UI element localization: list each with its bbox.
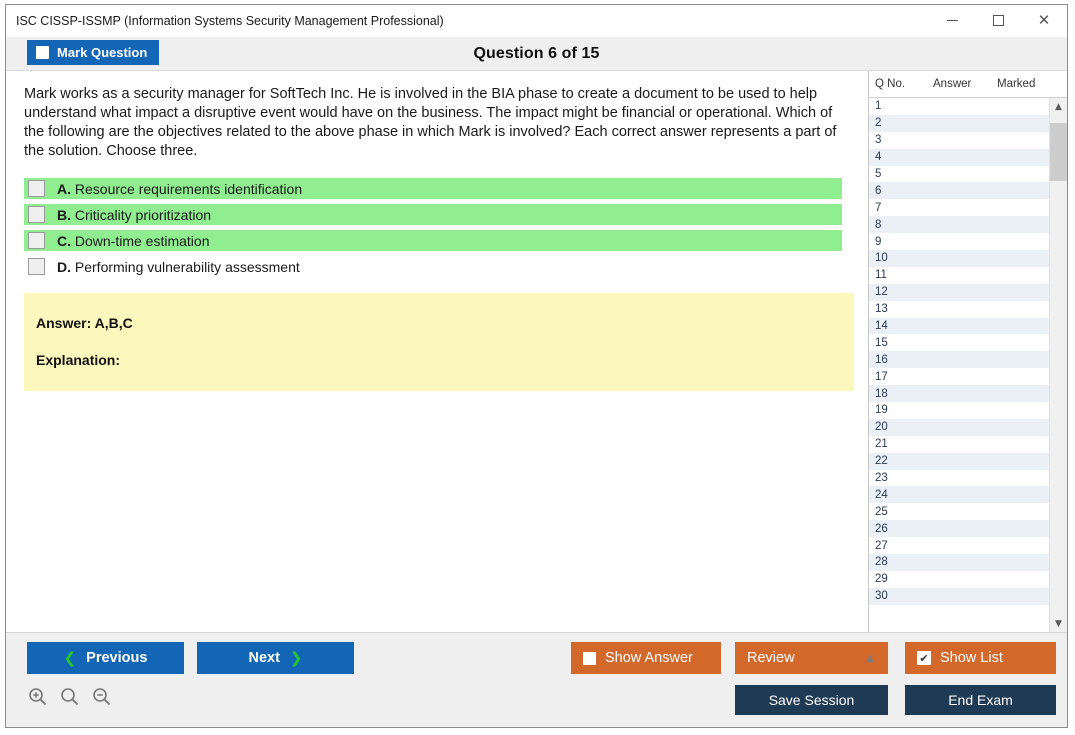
mark-question-checkbox-icon[interactable]	[36, 46, 49, 59]
question-rows-container: 1234567891011121314151617181920212223242…	[869, 98, 1049, 632]
question-list-cell-no: 23	[869, 472, 901, 484]
answer-option-label: B. Criticality prioritization	[57, 207, 211, 223]
question-list-row[interactable]: 27	[869, 537, 1049, 554]
question-list-cell-no: 25	[869, 506, 901, 518]
answer-option-checkbox[interactable]	[28, 206, 45, 223]
question-list-cell-no: 21	[869, 438, 901, 450]
question-list-cell-no: 4	[869, 151, 901, 163]
scrollbar-track[interactable]	[1050, 115, 1067, 615]
show-list-button[interactable]: ✔ Show List	[905, 642, 1056, 674]
end-exam-label: End Exam	[948, 692, 1013, 708]
answer-option-label: D. Performing vulnerability assessment	[57, 259, 300, 275]
previous-button[interactable]: ❮ Previous	[27, 642, 184, 674]
next-button[interactable]: Next ❯	[197, 642, 354, 674]
zoom-in-icon[interactable]	[28, 687, 47, 706]
question-list-row[interactable]: 15	[869, 334, 1049, 351]
answer-option-letter: C.	[57, 233, 71, 249]
question-list-row[interactable]: 11	[869, 267, 1049, 284]
question-list-row[interactable]: 18	[869, 385, 1049, 402]
scroll-up-icon[interactable]: ▲	[1050, 98, 1067, 115]
question-list-row[interactable]: 20	[869, 419, 1049, 436]
previous-chevron-icon: ❮	[64, 651, 77, 666]
question-list-cell-no: 29	[869, 573, 901, 585]
question-list-row[interactable]: 12	[869, 284, 1049, 301]
zoom-toolbar	[28, 687, 111, 706]
question-list-cell-no: 6	[869, 185, 901, 197]
question-list-row[interactable]: 8	[869, 216, 1049, 233]
answer-option-letter: A.	[57, 181, 71, 197]
chevron-up-icon: ▲	[866, 653, 874, 664]
question-text: Mark works as a security manager for Sof…	[24, 85, 850, 161]
question-header-bar: Mark Question Question 6 of 15	[6, 37, 1067, 71]
question-list-cell-no: 14	[869, 320, 901, 332]
show-list-checkbox-icon[interactable]: ✔	[917, 651, 931, 665]
question-list-row[interactable]: 16	[869, 351, 1049, 368]
maximize-icon	[993, 15, 1004, 26]
question-list-cell-no: 17	[869, 371, 901, 383]
question-list-cell-no: 12	[869, 286, 901, 298]
minimize-icon	[947, 20, 958, 21]
mark-question-label: Mark Question	[57, 45, 147, 60]
footer-toolbar: ❮ Previous Next ❯ Show Answer Review ▲ ✔…	[6, 632, 1067, 727]
question-pane: Mark works as a security manager for Sof…	[6, 71, 868, 632]
review-dropdown[interactable]: Review ▲	[735, 642, 888, 674]
answer-option-label: A. Resource requirements identification	[57, 181, 302, 197]
question-list-cell-no: 5	[869, 168, 901, 180]
question-list-row[interactable]: 25	[869, 503, 1049, 520]
question-list-row[interactable]: 29	[869, 571, 1049, 588]
question-list-row[interactable]: 30	[869, 588, 1049, 605]
column-header-marked: Marked	[997, 78, 1057, 90]
answer-option-row[interactable]: D. Performing vulnerability assessment	[24, 256, 842, 277]
question-list-cell-no: 28	[869, 556, 901, 568]
question-list-row[interactable]: 14	[869, 318, 1049, 335]
next-chevron-icon: ❯	[290, 651, 303, 666]
question-list-cell-no: 30	[869, 590, 901, 602]
question-list-cell-no: 1	[869, 100, 901, 112]
show-answer-label: Show Answer	[605, 650, 693, 666]
question-list-row[interactable]: 24	[869, 486, 1049, 503]
answer-option-letter: B.	[57, 207, 71, 223]
save-session-label: Save Session	[769, 692, 855, 708]
answer-option-text: Performing vulnerability assessment	[75, 259, 300, 275]
question-counter: Question 6 of 15	[6, 45, 1067, 63]
question-list-row[interactable]: 28	[869, 554, 1049, 571]
answer-option-checkbox[interactable]	[28, 258, 45, 275]
question-list-row[interactable]: 7	[869, 199, 1049, 216]
answer-option-row[interactable]: A. Resource requirements identification	[24, 178, 842, 199]
close-button[interactable]: ✕	[1021, 5, 1067, 36]
question-list-row[interactable]: 10	[869, 250, 1049, 267]
scroll-down-icon[interactable]: ▼	[1050, 615, 1067, 632]
question-list-cell-no: 8	[869, 219, 901, 231]
answer-option-letter: D.	[57, 259, 71, 275]
column-header-qno: Q No.	[869, 78, 933, 90]
question-list-cell-no: 16	[869, 354, 901, 366]
question-list-cell-no: 19	[869, 404, 901, 416]
answer-option-row[interactable]: B. Criticality prioritization	[24, 204, 842, 225]
answer-option-row[interactable]: C. Down-time estimation	[24, 230, 842, 251]
answer-value: Answer: A,B,C	[36, 315, 854, 331]
maximize-button[interactable]	[975, 5, 1021, 36]
question-list-cell-no: 13	[869, 303, 901, 315]
end-exam-button[interactable]: End Exam	[905, 685, 1056, 715]
answer-option-checkbox[interactable]	[28, 232, 45, 249]
scrollbar-thumb[interactable]	[1050, 123, 1067, 181]
minimize-button[interactable]	[929, 5, 975, 36]
question-list-cell-no: 27	[869, 540, 901, 552]
question-list-header: Q No. Answer Marked	[869, 71, 1067, 98]
question-list-scrollbar[interactable]: ▲ ▼	[1049, 98, 1067, 632]
question-list-body: 1234567891011121314151617181920212223242…	[869, 98, 1067, 632]
window-title: ISC CISSP-ISSMP (Information Systems Sec…	[6, 14, 444, 28]
question-list-cell-no: 10	[869, 252, 901, 264]
exam-application-window: ISC CISSP-ISSMP (Information Systems Sec…	[5, 4, 1068, 728]
question-list-row[interactable]: 5	[869, 166, 1049, 183]
question-list-row[interactable]: 6	[869, 182, 1049, 199]
previous-label: Previous	[86, 650, 147, 666]
question-list-row[interactable]: 26	[869, 520, 1049, 537]
question-list-row[interactable]: 17	[869, 368, 1049, 385]
close-icon: ✕	[1038, 13, 1051, 28]
question-list-row[interactable]: 23	[869, 470, 1049, 487]
explanation-label: Explanation:	[36, 352, 854, 368]
next-label: Next	[248, 650, 279, 666]
question-list-row[interactable]: 2	[869, 115, 1049, 132]
question-list-cell-no: 15	[869, 337, 901, 349]
question-list-cell-no: 18	[869, 388, 901, 400]
mark-question-button[interactable]: Mark Question	[27, 40, 159, 65]
question-list-panel: Q No. Answer Marked 12345678910111213141…	[868, 71, 1067, 632]
question-list-row[interactable]: 4	[869, 149, 1049, 166]
window-controls: ✕	[929, 5, 1067, 36]
question-list-cell-no: 24	[869, 489, 901, 501]
question-list-cell-no: 22	[869, 455, 901, 467]
answer-option-checkbox[interactable]	[28, 180, 45, 197]
question-list-row[interactable]: 21	[869, 436, 1049, 453]
answer-explanation-box: Answer: A,B,C Explanation:	[24, 293, 854, 391]
question-list-row[interactable]: 3	[869, 132, 1049, 149]
column-header-answer: Answer	[933, 78, 997, 90]
question-list-cell-no: 7	[869, 202, 901, 214]
question-list-cell-no: 11	[869, 269, 901, 281]
show-list-label: Show List	[940, 650, 1003, 666]
question-list-cell-no: 3	[869, 134, 901, 146]
zoom-out-icon[interactable]	[92, 687, 111, 706]
answer-option-text: Down-time estimation	[75, 233, 210, 249]
title-bar: ISC CISSP-ISSMP (Information Systems Sec…	[6, 5, 1067, 37]
show-answer-checkbox-icon[interactable]	[583, 652, 596, 665]
question-list-cell-no: 20	[869, 421, 901, 433]
answer-option-label: C. Down-time estimation	[57, 233, 210, 249]
question-list-cell-no: 9	[869, 236, 901, 248]
question-list-row[interactable]: 13	[869, 301, 1049, 318]
question-list-row[interactable]: 1	[869, 98, 1049, 115]
question-list-cell-no: 26	[869, 523, 901, 535]
show-answer-button[interactable]: Show Answer	[571, 642, 721, 674]
zoom-reset-icon[interactable]	[60, 687, 79, 706]
review-label: Review	[747, 650, 795, 666]
answer-option-text: Resource requirements identification	[75, 181, 302, 197]
main-content: Mark works as a security manager for Sof…	[6, 71, 1067, 632]
question-list-row[interactable]: 9	[869, 233, 1049, 250]
answer-option-text: Criticality prioritization	[75, 207, 211, 223]
save-session-button[interactable]: Save Session	[735, 685, 888, 715]
question-list-row[interactable]: 22	[869, 453, 1049, 470]
question-list-cell-no: 2	[869, 117, 901, 129]
answer-options-list: A. Resource requirements identificationB…	[6, 178, 868, 277]
question-list-row[interactable]: 19	[869, 402, 1049, 419]
